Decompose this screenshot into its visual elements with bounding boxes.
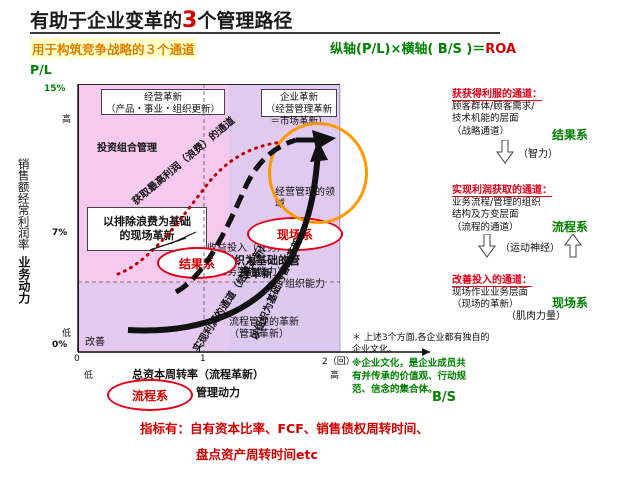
y-axis-title-secondary: 业务动力 — [12, 256, 34, 308]
right-block-3-head: 改善投入的通道： — [452, 271, 532, 287]
label-flow-management-innovation: 流程管理的革新 （管理革新） — [229, 317, 315, 341]
y-axis-title-text: 销售额经常利润率 — [16, 158, 29, 250]
right-block-1: 获获得利服的通道： 顾客群体/顾客需求/ 技术机能的层面 （战略通道） — [452, 82, 634, 138]
title-text-pre: 有助于企业变革的 — [30, 10, 182, 32]
y-tick-15: 15% — [44, 84, 66, 94]
subtitle-right: 纵轴(P/L)×横轴( B/S )＝ROA — [330, 38, 516, 57]
right-mid-1: （智力） — [518, 145, 558, 160]
title-number: 3 — [182, 8, 197, 33]
right-mid-3-wrap: （肌肉力量） — [506, 304, 566, 323]
box-management-innovation: 经营革新 （产品・事业・组织更新） — [101, 89, 225, 115]
x-axis-title-secondary: 管理动力 — [196, 384, 240, 400]
orange-highlight-circle — [268, 122, 368, 224]
right-block-2-body: 业务流程/管理的组织 结构及方变层面 （流程的通道） — [452, 197, 634, 234]
footer-line-2: 盘点资产周转时间etc — [196, 444, 318, 463]
right-block-1-body: 顾客群体/顾客需求/ 技术机能的层面 （战略通道） — [452, 101, 634, 138]
right-mid-3: （肌肉力量） — [506, 311, 566, 322]
right-block-2-head: 实现利润获取的通道： — [452, 181, 552, 197]
star-note: ＊ 上述3个方面,各企业都有独自的 企业文化。 — [352, 332, 512, 356]
subtitle-left: 用于构筑竞争战略的３个通道 — [30, 38, 197, 59]
y-axis-title-secondary-text: 业务动力 — [16, 256, 30, 304]
y-axis-title: 销售额经常利润率 — [14, 158, 32, 253]
right-block-2: 实现利润获取的通道： 业务流程/管理的组织 结构及方变层面 （流程的通道） — [452, 178, 634, 234]
footer-line-1: 指标有：自有资本比率、FCF、销售债权周转时间、 — [140, 418, 429, 437]
title-underline — [30, 32, 500, 34]
subtitle-right-text: 纵轴(P/L)×横轴( B/S )＝ — [330, 42, 485, 57]
label-org-capability: 组织能力 — [285, 275, 325, 290]
x-tick-2: 2（回） — [322, 354, 355, 367]
right-mid-2: （运动神经） — [500, 239, 560, 254]
y-axis-low-label: 低 — [62, 326, 71, 339]
ellipse-flow-system: 流程系 — [107, 379, 193, 411]
y-axis-high-label: 高 — [62, 112, 71, 125]
label-portfolio-management: 投资组合管理 — [97, 139, 157, 154]
right-mid-1-wrap: （智力） — [496, 140, 558, 164]
right-mid-2-wrap: （运动神经） — [478, 234, 582, 258]
up-arrow-icon-2 — [564, 234, 582, 258]
y-tick-7: 7% — [52, 228, 67, 238]
right-block-1-head: 获获得利服的通道： — [452, 85, 542, 101]
x-tick-1: 1 — [200, 354, 206, 364]
title-text-post: 个管理路径 — [197, 10, 292, 32]
down-arrow-icon-2 — [478, 234, 496, 258]
x-tick-0: 0 — [74, 354, 80, 364]
box-enterprise-innovation: 企业革新 （经营管理革新＝市场革新） — [261, 89, 337, 117]
label-improvement: 改善 — [85, 333, 105, 348]
y-tick-0: 0% — [52, 340, 67, 350]
ellipse-result-system: 结果系 — [157, 247, 237, 279]
x-axis-high-label: 高 — [330, 368, 339, 381]
y-axis-pl-label: P/L — [30, 62, 52, 77]
right-tag-2: 流程系 — [552, 220, 588, 234]
box-site-innovation: 以排除浪费为基础 的现场革新 — [87, 207, 207, 251]
right-tag-2-wrap: 流程系 — [552, 216, 588, 235]
page-title: 有助于企业变革的3个管理路径 — [30, 6, 610, 33]
roa-label: ROA — [485, 42, 516, 57]
down-arrow-icon-1 — [496, 140, 514, 164]
x-axis-low-label: 低 — [84, 368, 93, 381]
green-note: ※企业文化，是企业成员共 有并传承的价值观、行动规 范、信念的集合体。 — [352, 358, 517, 396]
